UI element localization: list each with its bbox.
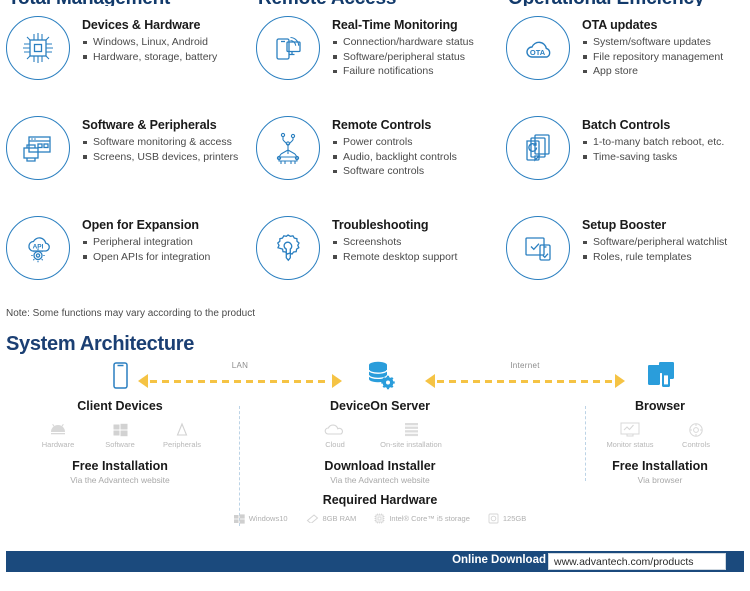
controls-icon [666,421,726,438]
column-remote-access: Remote Access Real-Time M [250,0,500,330]
node-subicons: Cloud On-site installation [250,421,510,449]
feature-text: Setup Booster Software/peripheral watchl… [582,214,727,264]
bullet: Software/peripheral status [332,50,474,65]
monitor-status-icon [594,421,666,438]
hw-item-ram: 8GB RAM [306,514,357,523]
multi-device-icon [570,360,750,397]
android-icon [27,421,89,438]
hw-label: 125GB [503,514,526,523]
bullet: Software/peripheral watchlist [582,235,727,250]
disclaimer-note: Note: Some functions may vary according … [6,308,255,319]
subicon-controls: Controls [666,421,726,449]
feature-text: Real-Time Monitoring Connection/hardware… [332,14,474,79]
ram-icon [306,514,319,523]
feature-bullets: Software/peripheral watchlist Roles, rul… [582,235,727,264]
subicon-label: Software [89,440,151,449]
feature-title: Real-Time Monitoring [332,18,474,32]
bullet: Software controls [332,164,457,179]
hw-label: Intel® Core™ i5 storage [389,514,470,523]
peripherals-icon [151,421,213,438]
column-title: Total Management [8,0,250,6]
hw-item-storage: 125GB [488,513,526,524]
column-total-management: Total Management Devices & Hardware [0,0,250,330]
bullet: Screenshots [332,235,457,250]
feature-title: Software & Peripherals [82,118,238,132]
feature-ota-updates: OTA OTA updates System/software updates … [500,14,750,114]
onsite-icon [366,421,456,438]
subicon-software: Software [89,421,151,449]
feature-open-for-expansion: API Open for Expansion Peripheral integr… [0,214,250,314]
hw-label: 8GB RAM [323,514,357,523]
footer-bar: Online Download www.advantech.com/produc… [6,551,744,572]
feature-columns: Total Management Devices & Hardware [0,0,750,330]
feature-title: Setup Booster [582,218,727,232]
stacked-documents-icon [506,116,570,180]
bullet: Connection/hardware status [332,35,474,50]
feature-text: OTA updates System/software updates File… [582,14,723,79]
storage-icon [488,513,499,524]
subicon-peripherals: Peripherals [151,421,213,449]
node-client-devices: Client Devices Hardware [10,360,230,485]
subicon-label: On-site installation [366,440,456,449]
ota-cloud-icon: OTA [506,16,570,80]
subicon-cloud: Cloud [304,421,366,449]
circuit-control-icon [256,116,320,180]
feature-text: Troubleshooting Screenshots Remote deskt… [332,214,457,264]
column-title: Remote Access [258,0,500,6]
column-operational-efficiency: Operational Efficiency OTA OTA updates S… [500,0,750,330]
install-title: Free Installation [570,459,750,473]
feature-bullets: System/software updates File repository … [582,35,723,79]
subicon-label: Hardware [27,440,89,449]
feature-software-peripherals: Software & Peripherals Software monitori… [0,114,250,214]
section-title-system-architecture: System Architecture [6,333,194,356]
feature-text: Batch Controls 1-to-many batch reboot, e… [582,114,724,164]
feature-real-time-monitoring: Real-Time Monitoring Connection/hardware… [250,14,500,114]
bullet: Open APIs for integration [82,250,210,265]
smartphone-icon [10,360,230,397]
bullet: App store [582,64,723,79]
software-peripherals-icon [6,116,70,180]
bullet: Remote desktop support [332,250,457,265]
bullet: File repository management [582,50,723,65]
feature-title: Batch Controls [582,118,724,132]
feature-devices-hardware: Devices & Hardware Windows, Linux, Andro… [0,14,250,114]
bullet: System/software updates [582,35,723,50]
node-label: DeviceOn Server [250,399,510,413]
bullet: 1-to-many batch reboot, etc. [582,135,724,150]
feature-troubleshooting: Troubleshooting Screenshots Remote deskt… [250,214,500,314]
feature-bullets: Power controls Audio, backlight controls… [332,135,457,179]
cloud-icon [304,421,366,438]
remote-monitor-icon [256,16,320,80]
bullet: Peripheral integration [82,235,210,250]
feature-batch-controls: Batch Controls 1-to-many batch reboot, e… [500,114,750,214]
feature-title: Remote Controls [332,118,457,132]
bullet: Roles, rule templates [582,250,727,265]
server-gear-icon [250,360,510,397]
feature-bullets: Peripheral integration Open APIs for int… [82,235,210,264]
architecture-diagram: LAN Internet Client Devices [0,360,750,535]
node-label: Client Devices [10,399,230,413]
feature-title: Open for Expansion [82,218,210,232]
bullet: Time-saving tasks [582,150,724,165]
feature-title: OTA updates [582,18,723,32]
feature-text: Software & Peripherals Software monitori… [82,114,238,164]
bullet: Failure notifications [332,64,474,79]
poster-page: Total Management Devices & Hardware [0,0,750,591]
feature-bullets: 1-to-many batch reboot, etc. Time-saving… [582,135,724,164]
node-subicons: Monitor status Controls [570,421,750,449]
subicon-hardware: Hardware [27,421,89,449]
node-deviceon-server: DeviceOn Server Cloud [250,360,510,524]
bullet: Audio, backlight controls [332,150,457,165]
install-title: Free Installation [10,459,230,473]
required-hardware-title: Required Hardware [250,493,510,507]
feature-title: Troubleshooting [332,218,457,232]
subicon-monitor-status: Monitor status [594,421,666,449]
feature-text: Remote Controls Power controls Audio, ba… [332,114,457,179]
subicon-onsite: On-site installation [366,421,456,449]
subicon-label: Peripherals [151,440,213,449]
install-subtitle: Via the Advantech website [10,475,230,485]
bullet: Software monitoring & access [82,135,238,150]
feature-title: Devices & Hardware [82,18,217,32]
feature-text: Devices & Hardware Windows, Linux, Andro… [82,14,217,64]
feature-text: Open for Expansion Peripheral integratio… [82,214,210,264]
bullet: Screens, USB devices, printers [82,150,238,165]
subicon-label: Controls [666,440,726,449]
online-download-label: Online Download [452,554,546,566]
required-hardware-list: Windows10 8GB RAM Intel® Core™ [250,513,510,524]
hw-label: Windows10 [249,514,288,523]
bullet: Windows, Linux, Android [82,35,217,50]
feature-bullets: Software monitoring & access Screens, US… [82,135,238,164]
api-cloud-icon: API [6,216,70,280]
divider-left [239,406,240,526]
install-title: Download Installer [250,459,510,473]
hw-item-windows: Windows10 [234,514,288,524]
install-subtitle: Via the Advantech website [250,475,510,485]
subicon-label: Cloud [304,440,366,449]
hw-item-cpu: Intel® Core™ i5 storage [374,513,470,524]
feature-bullets: Windows, Linux, Android Hardware, storag… [82,35,217,64]
chip-icon [6,16,70,80]
footer-url-field[interactable]: www.advantech.com/products [548,553,726,570]
install-subtitle: Via browser [570,475,750,485]
node-browser: Browser Monitor status [570,360,750,485]
feature-remote-controls: Remote Controls Power controls Audio, ba… [250,114,500,214]
node-label: Browser [570,399,750,413]
node-subicons: Hardware Software [10,421,230,449]
feature-bullets: Screenshots Remote desktop support [332,235,457,264]
svg-text:OTA: OTA [530,48,546,57]
subicon-label: Monitor status [594,440,666,449]
checklist-devices-icon [506,216,570,280]
feature-setup-booster: Setup Booster Software/peripheral watchl… [500,214,750,314]
windows-icon [89,421,151,438]
feature-bullets: Connection/hardware status Software/peri… [332,35,474,79]
bullet: Power controls [332,135,457,150]
gear-wrench-icon [256,216,320,280]
column-title: Operational Efficiency [508,0,750,6]
cpu-icon [374,513,385,524]
bullet: Hardware, storage, battery [82,50,217,65]
windows-icon [234,514,245,524]
